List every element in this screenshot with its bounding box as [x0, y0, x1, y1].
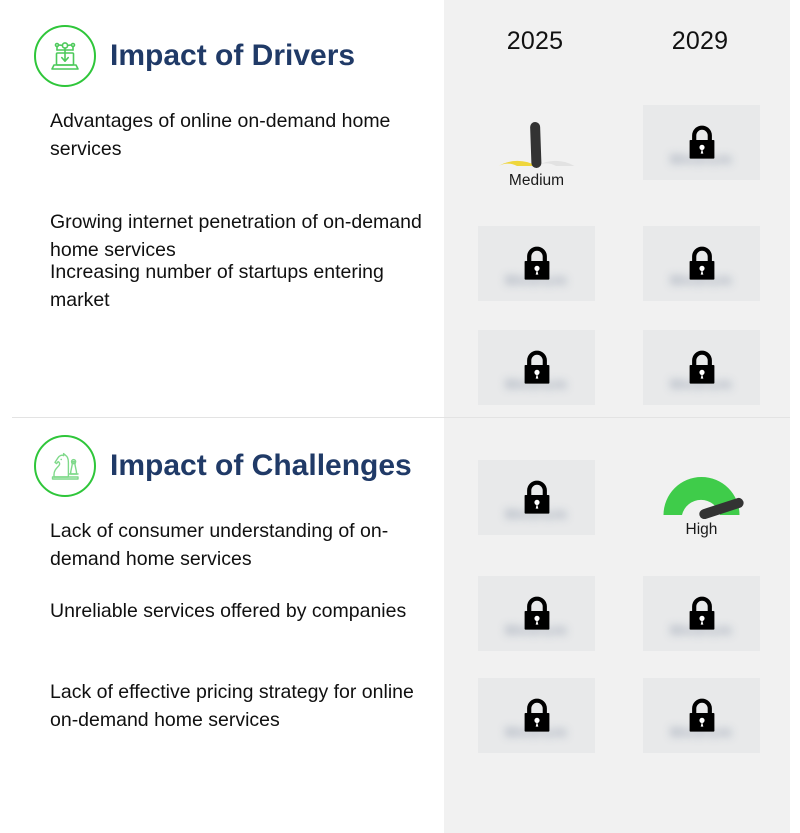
driver-item-3: Increasing number of startups entering m…: [50, 258, 430, 314]
gauge-label-drivers-row1-2025: Medium: [478, 172, 595, 190]
gauge-drivers-row1-2025: Medium: [478, 108, 595, 198]
locked-cell-challenges-row3-2025[interactable]: Medium: [478, 678, 595, 753]
lock-icon: [520, 695, 554, 735]
lock-icon: [685, 122, 719, 162]
locked-cell-drivers-row1-2029[interactable]: Medium: [643, 105, 760, 180]
challenge-item-2: Unreliable services offered by companies: [50, 597, 430, 625]
driver-item-2: Growing internet penetration of on-deman…: [50, 208, 430, 264]
driver-item-1: Advantages of online on-demand home serv…: [50, 107, 430, 163]
locked-cell-drivers-row2-2029[interactable]: Medium: [643, 226, 760, 301]
locked-cell-challenges-row2-2029[interactable]: Medium: [643, 576, 760, 651]
column-header-2025: 2025: [470, 27, 600, 56]
chess-knight-pawn-icon: [34, 435, 96, 497]
lock-icon: [685, 243, 719, 283]
lock-icon: [685, 347, 719, 387]
locked-cell-drivers-row3-2025[interactable]: Medium: [478, 330, 595, 405]
section-header-drivers: Impact of Drivers: [34, 25, 355, 87]
locked-placeholder: Medium: [643, 576, 760, 651]
locked-placeholder: Medium: [478, 678, 595, 753]
lock-icon: [685, 695, 719, 735]
locked-placeholder: Medium: [643, 330, 760, 405]
column-header-2029: 2029: [635, 27, 765, 56]
section-divider: [12, 417, 790, 418]
locked-cell-challenges-row2-2025[interactable]: Medium: [478, 576, 595, 651]
laptop-download-arrow-icon: [34, 25, 96, 87]
lock-icon: [520, 593, 554, 633]
challenge-item-3: Lack of effective pricing strategy for o…: [50, 678, 430, 734]
section-header-challenges: Impact of Challenges: [34, 435, 412, 497]
locked-placeholder: Medium: [478, 460, 595, 535]
locked-placeholder: Medium: [643, 226, 760, 301]
lock-icon: [520, 347, 554, 387]
locked-cell-drivers-row2-2025[interactable]: Medium: [478, 226, 595, 301]
challenge-item-1: Lack of consumer understanding of on-dem…: [50, 517, 430, 573]
lock-icon: [685, 593, 719, 633]
locked-cell-challenges-row3-2029[interactable]: Medium: [643, 678, 760, 753]
section-title-challenges: Impact of Challenges: [110, 449, 412, 483]
locked-cell-drivers-row3-2029[interactable]: Medium: [643, 330, 760, 405]
locked-placeholder: Medium: [478, 576, 595, 651]
gauge-label-challenges-row1-2029: High: [643, 521, 760, 539]
locked-placeholder: Medium: [478, 330, 595, 405]
lock-icon: [520, 477, 554, 517]
lock-icon: [520, 243, 554, 283]
gauge-dial-high: [643, 457, 760, 519]
gauge-challenges-row1-2029: High: [643, 457, 760, 547]
section-title-drivers: Impact of Drivers: [110, 39, 355, 73]
locked-placeholder: Medium: [643, 105, 760, 180]
locked-cell-challenges-row1-2025[interactable]: Medium: [478, 460, 595, 535]
locked-placeholder: Medium: [478, 226, 595, 301]
locked-placeholder: Medium: [643, 678, 760, 753]
gauge-dial-medium: [478, 108, 595, 170]
